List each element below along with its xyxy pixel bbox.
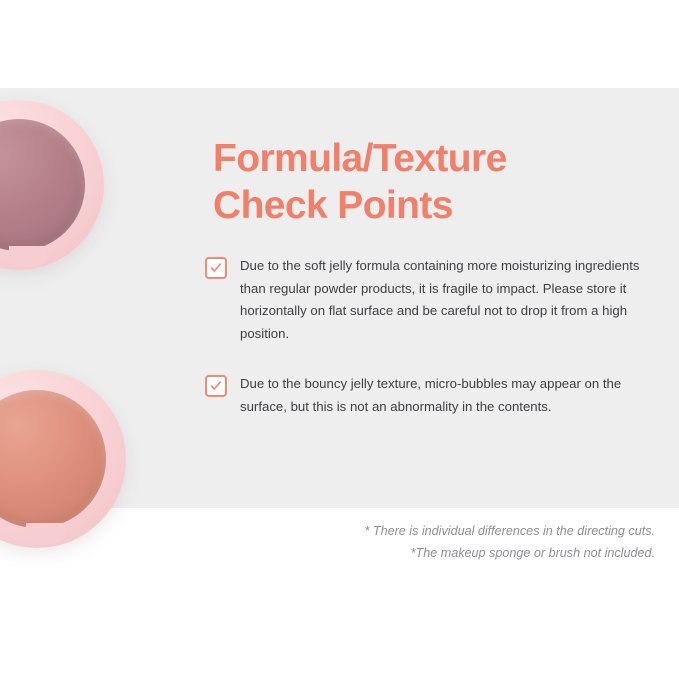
product-photo-compact-coral [0,370,126,548]
checkpoint-text: Due to the bouncy jelly texture, micro-b… [240,373,660,418]
product-detail-image: Formula/Texture Check Points Due to the … [0,0,679,679]
checkpoint-list: Due to the soft jelly formula containing… [205,255,660,446]
page-title-line-2: Check Points [213,182,643,229]
footnote-line: *The makeup sponge or brush not included… [230,542,655,564]
checkbox-checked-icon [205,257,227,279]
page-title: Formula/Texture Check Points [213,135,643,229]
footnote-block: * There is individual differences in the… [230,520,655,564]
compact-case [0,370,126,548]
product-photo-column [0,0,210,600]
compact-pan-coral [0,390,106,529]
list-item: Due to the bouncy jelly texture, micro-b… [205,373,660,418]
checkbox-checked-icon [205,375,227,397]
checkpoint-text: Due to the soft jelly formula containing… [240,255,660,345]
product-photo-compact-mauve [0,100,104,270]
compact-notch [26,523,65,544]
compact-case [0,100,104,270]
list-item: Due to the soft jelly formula containing… [205,255,660,345]
page-title-line-1: Formula/Texture [213,135,643,182]
footnote-line: * There is individual differences in the… [230,520,655,542]
compact-pan-mauve [0,119,85,252]
compact-notch [9,246,46,266]
